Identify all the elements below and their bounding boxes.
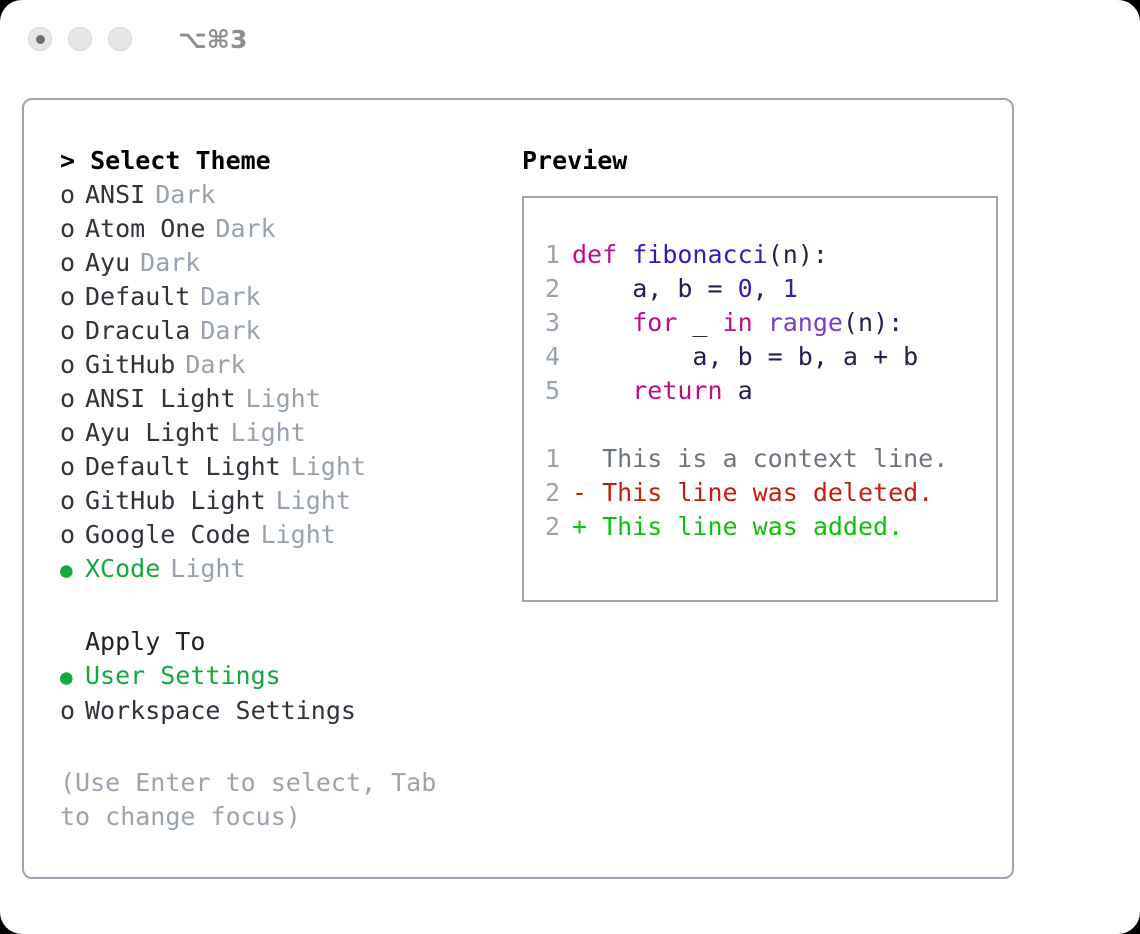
keyboard-hint-text: (Use Enter to select, Tab to change focu… [40, 766, 480, 834]
theme-option-kind: Light [251, 518, 336, 552]
line-number: 2 [524, 272, 572, 306]
radio-icon: o [60, 416, 85, 450]
theme-option-label: Ayu [85, 246, 130, 280]
apply-to-label: Apply To [40, 625, 502, 659]
token-plain [753, 308, 768, 337]
diff-line-added: 2 + This line was added. [524, 510, 996, 544]
theme-option-kind: Light [236, 382, 321, 416]
traffic-light-1[interactable] [28, 27, 52, 51]
token-plain: _ [677, 308, 722, 337]
token-keyword: def [572, 240, 617, 269]
radio-icon: o [60, 348, 85, 382]
theme-option-label: GitHub Light [85, 484, 266, 518]
theme-option-atom-one[interactable]: o Atom One Dark [40, 212, 502, 246]
theme-option-kind: Dark [205, 212, 275, 246]
theme-option-github[interactable]: o GitHub Dark [40, 348, 502, 382]
theme-option-dracula[interactable]: o Dracula Dark [40, 314, 502, 348]
token-call: range [768, 308, 843, 337]
theme-list: o ANSI Dark o Atom One Dark o Ayu Dark [40, 178, 502, 587]
radio-icon: o [60, 178, 85, 212]
token-plain: ( [768, 240, 783, 269]
theme-option-xcode[interactable]: ● XCode Light [40, 552, 502, 587]
radio-icon: o [60, 484, 85, 518]
theme-option-label: Ayu Light [85, 416, 220, 450]
radio-icon: o [60, 246, 85, 280]
code-line: 4 a, b = b, a + b [524, 340, 996, 374]
theme-option-ansi[interactable]: o ANSI Dark [40, 178, 502, 212]
theme-option-label: XCode [85, 552, 160, 586]
token-keyword: in [723, 308, 753, 337]
apply-option-workspace-settings[interactable]: o Workspace Settings [40, 694, 502, 728]
theme-option-kind: Dark [145, 178, 215, 212]
token-plain [572, 376, 632, 405]
token-plain: a [723, 376, 753, 405]
theme-option-label: ANSI Light [85, 382, 236, 416]
token-keyword: return [632, 376, 722, 405]
line-number: 4 [524, 340, 572, 374]
token-plain: ): [798, 240, 828, 269]
radio-icon: o [60, 518, 85, 552]
theme-selector-column: > Select Theme o ANSI Dark o Atom One Da… [40, 144, 502, 834]
token-plain: , [753, 274, 783, 303]
app-window: ⌥⌘3 > Select Theme o ANSI Dark o Atom On… [0, 0, 1140, 934]
hint-spacer [40, 728, 502, 766]
radio-icon: o [60, 314, 85, 348]
line-number: 3 [524, 306, 572, 340]
code-content: a, b = b, a + b [572, 340, 918, 374]
token-plain [572, 308, 632, 337]
preview-box: 1 def fibonacci(n): 2 a, b = 0, 1 3 for … [522, 196, 998, 602]
theme-option-label: ANSI [85, 178, 145, 212]
line-number: 1 [524, 442, 572, 476]
theme-option-google-code[interactable]: o Google Code Light [40, 518, 502, 552]
line-number: 1 [524, 238, 572, 272]
theme-option-kind: Light [160, 552, 245, 586]
theme-option-label: Atom One [85, 212, 205, 246]
list-spacer [40, 587, 502, 625]
code-content: a, b = 0, 1 [572, 272, 798, 306]
diff-line-deleted: 2 - This line was deleted. [524, 476, 996, 510]
select-theme-header: > Select Theme [40, 144, 502, 178]
theme-option-kind: Dark [175, 348, 245, 382]
theme-option-kind: Dark [130, 246, 200, 280]
radio-selected-icon: ● [60, 660, 85, 694]
code-line: 1 def fibonacci(n): [524, 238, 996, 272]
code-sample: 1 def fibonacci(n): 2 a, b = 0, 1 3 for … [524, 238, 996, 408]
radio-selected-icon: ● [60, 553, 85, 587]
theme-option-label: Dracula [85, 314, 190, 348]
radio-icon: o [60, 450, 85, 484]
line-number: 5 [524, 374, 572, 408]
token-plain: a, b = [572, 274, 738, 303]
apply-option-label: User Settings [85, 659, 281, 693]
diff-content: + This line was added. [572, 510, 903, 544]
diff-sample: 1 This is a context line. 2 - This line … [524, 442, 996, 544]
main-panel: > Select Theme o ANSI Dark o Atom One Da… [22, 98, 1014, 879]
keyboard-shortcut-label: ⌥⌘3 [178, 25, 247, 54]
diff-content: This is a context line. [572, 442, 948, 476]
theme-option-default[interactable]: o Default Dark [40, 280, 502, 314]
title-bar: ⌥⌘3 [0, 0, 1140, 78]
code-content: def fibonacci(n): [572, 238, 828, 272]
diff-line-context: 1 This is a context line. [524, 442, 996, 476]
theme-option-github-light[interactable]: o GitHub Light Light [40, 484, 502, 518]
apply-to-list: ● User Settings o Workspace Settings [40, 659, 502, 728]
preview-header: Preview [502, 144, 1002, 178]
code-line: 3 for _ in range(n): [524, 306, 996, 340]
theme-option-default-light[interactable]: o Default Light Light [40, 450, 502, 484]
diff-content: - This line was deleted. [572, 476, 933, 510]
traffic-light-3[interactable] [108, 27, 132, 51]
theme-option-ayu[interactable]: o Ayu Dark [40, 246, 502, 280]
token-plain: a, b = b, a + b [572, 342, 918, 371]
token-param: n [783, 240, 798, 269]
diff-spacer [524, 408, 996, 442]
token-number: 0 [738, 274, 753, 303]
theme-option-kind: Light [220, 416, 305, 450]
code-content: return a [572, 374, 753, 408]
theme-option-kind: Dark [190, 280, 260, 314]
token-keyword: for [632, 308, 677, 337]
radio-icon: o [60, 382, 85, 416]
token-function: fibonacci [632, 240, 767, 269]
theme-option-label: GitHub [85, 348, 175, 382]
theme-option-label: Default Light [85, 450, 281, 484]
traffic-light-active-dot [36, 35, 45, 44]
radio-icon: o [60, 280, 85, 314]
code-line: 5 return a [524, 374, 996, 408]
token-plain: (n): [843, 308, 903, 337]
theme-option-ansi-light[interactable]: o ANSI Light Light [40, 382, 502, 416]
preview-column: Preview 1 def fibonacci(n): 2 a, b = 0, … [502, 144, 1002, 834]
line-number: 2 [524, 510, 572, 544]
theme-option-label: Default [85, 280, 190, 314]
apply-option-label: Workspace Settings [85, 694, 356, 728]
token-number: 1 [783, 274, 798, 303]
apply-option-user-settings[interactable]: ● User Settings [40, 659, 502, 694]
token-plain [617, 240, 632, 269]
theme-option-label: Google Code [85, 518, 251, 552]
panel-columns: > Select Theme o ANSI Dark o Atom One Da… [24, 100, 1012, 834]
theme-option-kind: Dark [190, 314, 260, 348]
theme-option-ayu-light[interactable]: o Ayu Light Light [40, 416, 502, 450]
theme-option-kind: Light [266, 484, 351, 518]
code-line: 2 a, b = 0, 1 [524, 272, 996, 306]
traffic-light-2[interactable] [68, 27, 92, 51]
radio-icon: o [60, 694, 85, 728]
radio-icon: o [60, 212, 85, 246]
theme-option-kind: Light [281, 450, 366, 484]
line-number: 2 [524, 476, 572, 510]
code-content: for _ in range(n): [572, 306, 903, 340]
